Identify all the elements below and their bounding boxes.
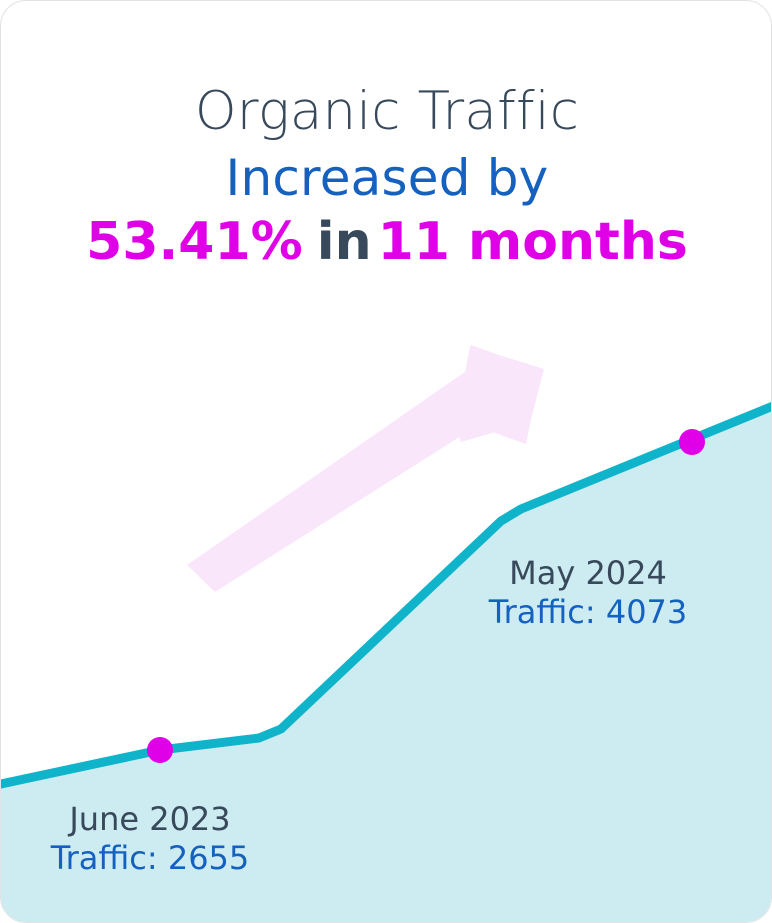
data-point-marker-end[interactable] (679, 429, 705, 455)
annotation-end-point: May 2024 Traffic: 4073 (428, 554, 748, 632)
organic-traffic-stat-card: Organic Traffic Increased by 53.41%in11 … (0, 0, 772, 923)
annotation-start-traffic: Traffic: 2655 (0, 839, 310, 878)
annotation-end-traffic: Traffic: 4073 (428, 593, 748, 632)
percent-increase-value: 53.41% (86, 212, 303, 272)
headline-block: Organic Traffic Increased by 53.41%in11 … (1, 85, 772, 268)
headline-subtitle: Increased by (1, 153, 772, 216)
page-title: Organic Traffic (1, 85, 772, 153)
headline-connector-word: in (303, 212, 378, 272)
annotation-start-point: June 2023 Traffic: 2655 (0, 800, 310, 878)
headline-stat-line: 53.41%in11 months (1, 216, 772, 268)
duration-value: 11 months (378, 212, 688, 272)
annotation-end-date: May 2024 (428, 554, 748, 593)
data-point-marker-start[interactable] (147, 737, 173, 763)
annotation-start-date: June 2023 (0, 800, 310, 839)
